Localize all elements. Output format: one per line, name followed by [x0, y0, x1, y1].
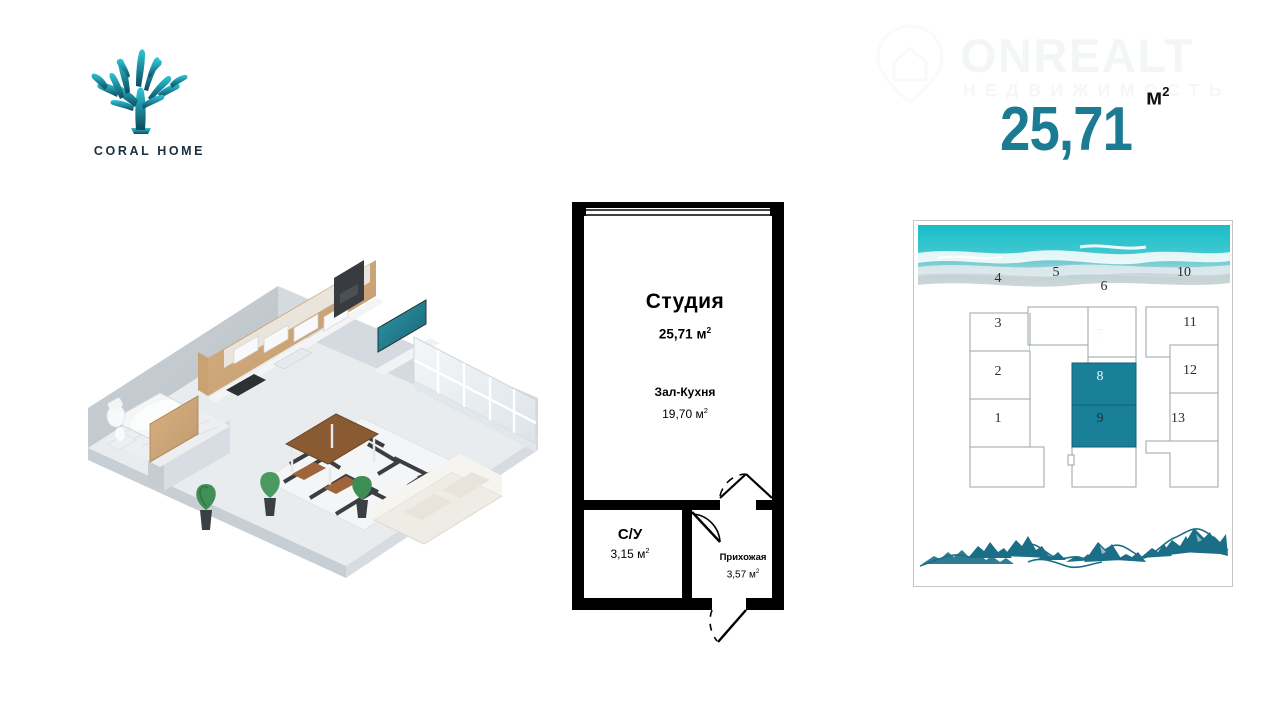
house-pin-icon: [868, 22, 952, 106]
unit-number-10[interactable]: 10: [1172, 265, 1196, 281]
mountain-range-silhouette: [918, 512, 1230, 578]
unit-number-9[interactable]: 9: [1088, 411, 1112, 427]
room-area-studio: 25,71 м2: [605, 325, 765, 342]
floorplan-walls: [560, 190, 810, 660]
room-name-living-kitchen: Зал-Кухня: [605, 385, 765, 399]
unit-number-3[interactable]: 3: [986, 316, 1010, 332]
unit-block-13: [1146, 441, 1218, 487]
unit-block-5: [1028, 307, 1090, 345]
area-unit: м2: [1146, 84, 1170, 110]
brand-logo: CORAL HOME: [62, 42, 262, 172]
room-area-bathroom: 3,15 м2: [580, 546, 680, 561]
watermark-word: ONREALT: [960, 28, 1194, 83]
room-area-living-kitchen: 19,70 м2: [605, 406, 765, 421]
key-plan-card: 1 2 3 4 5 6 7 8 9 10 11 12 13: [913, 220, 1233, 587]
unit-number-7[interactable]: 7: [1088, 327, 1112, 343]
room-name-bathroom: С/У: [580, 526, 680, 543]
unit-number-1[interactable]: 1: [986, 411, 1010, 427]
coral-logo-icon: [78, 42, 204, 138]
brand-name: CORAL HOME: [62, 144, 237, 158]
floorplan-2d: Студия 25,71 м2 Зал-Кухня 19,70 м2 С/У 3…: [560, 190, 810, 660]
unit-number-8[interactable]: 8: [1088, 369, 1112, 385]
unit-number-5[interactable]: 5: [1044, 265, 1068, 281]
room-name-hall: Прихожая: [698, 552, 788, 563]
area-value: 25,71: [1000, 94, 1132, 165]
unit-number-4[interactable]: 4: [986, 271, 1010, 287]
unit-layout: [918, 305, 1230, 505]
unit-number-6[interactable]: 6: [1092, 279, 1116, 295]
unit-number-11[interactable]: 11: [1178, 315, 1202, 331]
area-badge: 25,71 м2: [1000, 80, 1200, 160]
floorplan-page: CORAL HOME ONREALT НЕДВИЖИМОСТЬ 25,71 м2: [0, 0, 1280, 711]
unit-number-12[interactable]: 12: [1178, 363, 1202, 379]
beach-sea-photo: [918, 225, 1230, 297]
unit-number-13[interactable]: 13: [1166, 411, 1190, 427]
unit-block-1: [970, 447, 1044, 487]
room-title-studio: Студия: [605, 290, 765, 314]
room-area-hall: 3,57 м2: [698, 568, 788, 580]
area-unit-exponent: 2: [1162, 84, 1169, 99]
unit-number-2[interactable]: 2: [986, 364, 1010, 380]
unit-block-9: [1072, 447, 1136, 487]
apartment-3d-render: [78, 248, 548, 588]
area-unit-letter: м: [1146, 84, 1162, 109]
